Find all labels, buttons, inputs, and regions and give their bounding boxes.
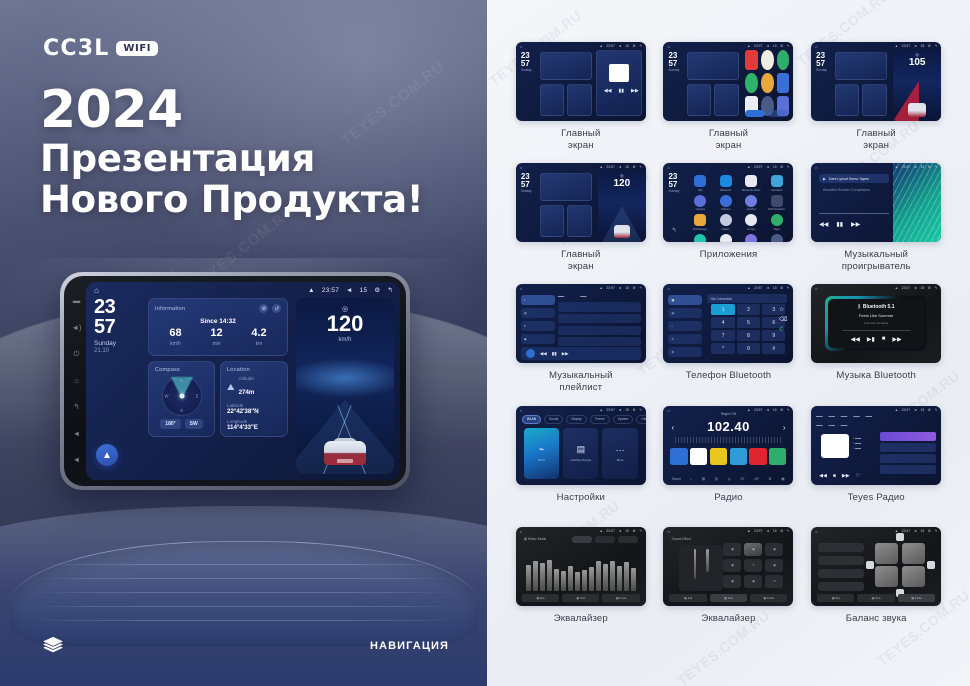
thumbnail-bt-phone[interactable]: ⌂ ▲23:57◄15⚙↰ ▦ ▤ ⌕ ✆ ⚙ Not Connected 1 … [663, 284, 793, 363]
tab-charts[interactable]: ▬▬ [841, 414, 847, 418]
app-icon-dsp-equalizer[interactable] [771, 195, 783, 207]
footer-tab-fade[interactable]: ▦ Fade [750, 594, 787, 602]
speaker-rear-right[interactable] [902, 566, 925, 587]
thumb-volume: 15 [773, 286, 777, 290]
tab-live[interactable]: ▬▬ [816, 414, 822, 418]
location-card[interactable]: Location ⛰ Altitude 274m [220, 361, 288, 437]
app-icon-maps[interactable] [771, 214, 783, 226]
speaker-front-left[interactable] [875, 543, 898, 564]
power-button[interactable]: ⏻ [74, 350, 80, 358]
dialpad-key-7[interactable]: 7 [711, 330, 734, 341]
home-button[interactable]: ⌂ [74, 377, 79, 385]
preset-pop[interactable]: ▣ [744, 543, 762, 556]
app-tile[interactable]: Camera [689, 195, 711, 212]
volume-up-button[interactable]: ◄ [73, 456, 80, 464]
prev-icon[interactable]: ◀◀ [819, 473, 827, 479]
thumbnail-home-speed[interactable]: ⌂ ▲23:57◄15⚙↰ 2357Sunday ◎ 120 [516, 163, 646, 242]
list-item[interactable] [558, 326, 641, 335]
eq-icon[interactable]: ▥ [715, 477, 718, 481]
fader-up-button[interactable] [896, 533, 904, 541]
settings-tabs[interactable]: WLAN Sound Display Theme System General [522, 415, 646, 424]
latitude-row: Latitude 22°42'38"N [227, 403, 281, 415]
gallery-item[interactable]: ⌂ ▲23:57◄15⚙↰ WLAN Sound Display Theme S… [511, 406, 651, 527]
media-controls[interactable]: ◀◀▮▮▶▶ [604, 88, 639, 94]
eq-band[interactable] [533, 561, 538, 590]
thumbnail-music-player[interactable]: ⌂ ▲23:57◄15⚙↰ ▶Dark Lyrical Demo Tapes B… [811, 163, 941, 242]
tab-system[interactable]: System [613, 415, 634, 424]
tab-more[interactable]: ▬▬ [866, 414, 872, 418]
backspace-icon[interactable]: ⌫ [779, 316, 787, 323]
app-tile[interactable]: Play Store [715, 234, 737, 243]
list-item[interactable] [558, 314, 641, 323]
settings-card-wifi[interactable]: ⌁Wi-Fi [524, 428, 559, 479]
app-icon-play-store[interactable] [720, 234, 732, 243]
call-icon[interactable]: ✆ [779, 326, 787, 333]
dialpad-key-8[interactable]: 8 [737, 330, 760, 341]
list-item[interactable] [880, 465, 936, 474]
eq-band[interactable] [603, 564, 608, 591]
mute-button[interactable]: ◄) [72, 324, 82, 332]
eq-band[interactable] [561, 571, 566, 590]
sidebar-item-folders[interactable]: ▣ [521, 334, 555, 344]
filter-recent[interactable]: ▬▬ [841, 423, 847, 427]
eq-band[interactable] [582, 570, 587, 591]
thumbnail-settings[interactable]: ⌂ ▲23:57◄15⚙↰ WLAN Sound Display Theme S… [516, 406, 646, 485]
volume-icon[interactable]: ◄ [346, 287, 353, 294]
thumb-clock: 2357Sunday [521, 52, 532, 72]
app-tile[interactable]: Carshot [740, 195, 762, 212]
equalizer-footer-tabs[interactable]: ▦ EQ▦ Sub▦ Fade [522, 594, 640, 602]
tab-theme[interactable]: Theme [590, 415, 610, 424]
eq-preset-buttons[interactable] [572, 536, 638, 543]
thumbnail-teyes-radio[interactable]: ▲23:57◄15⚙↰ ▬▬▬▬▬▬▬▬▬▬ ▬▬▬▬▬▬ ▪ ▬▬▪ ▬▬▪ … [811, 406, 941, 485]
gallery-item[interactable]: ⌂ ▲23:57◄15⚙↰ ▦ ▤ ⌕ ✆ ⚙ Not Connected 1 … [659, 284, 799, 405]
thumbnail-equalizer-2[interactable]: ⌂ ▲23:57◄15⚙↰ Sound Effect ▣▣▣ ▣✎▣ ▣▣↺ ▦… [663, 527, 793, 606]
thumb-clock-day: Sunday [668, 190, 679, 193]
thumb-time: 23:57 [754, 286, 763, 290]
stop-icon[interactable]: ■ [882, 336, 886, 343]
play-icon[interactable]: ▶ [823, 177, 826, 181]
sidebar-item-history[interactable]: ✆ [668, 334, 702, 344]
preset-button-1[interactable] [572, 536, 592, 543]
thumb-location-card [567, 84, 592, 116]
preset-item[interactable] [818, 582, 864, 591]
preset-item[interactable] [818, 569, 864, 578]
gallery-item[interactable]: ⌂ ▲23:57◄15⚙↰ 2357Sunday ◀◀▮▮▶▶ Главныйэ… [511, 42, 651, 163]
gallery-item[interactable]: ⌂ ▲23:57◄15⚙↰ ▦ EQ▦ Sub▦ Fade Бала [806, 527, 946, 648]
thumbnail-equalizer[interactable]: ⌂ ▲23:57◄15⚙↰ ▤ Music Mode ▦ EQ▦ [516, 527, 646, 606]
eq-band[interactable] [610, 561, 615, 590]
app-icon-music-player[interactable] [694, 234, 706, 243]
footer-tab-eq[interactable]: ▦ EQ [522, 594, 559, 602]
progress-bar[interactable] [842, 330, 911, 331]
app-tile[interactable]: Bluetooth [715, 175, 737, 192]
prev-icon[interactable]: ◀◀ [851, 336, 860, 343]
preset-vocal[interactable]: ▣ [765, 559, 783, 572]
app-tile[interactable]: Settings [766, 234, 788, 243]
app-tile[interactable]: Chrome [715, 195, 737, 212]
pause-icon[interactable]: ▮▮ [619, 88, 625, 94]
gallery-item[interactable]: ⌂ ▲23:57◄15⚙↰ Region FM 102.40 ‹ › [659, 406, 799, 527]
dialpad-key-hash[interactable]: # [762, 343, 785, 354]
app-tile[interactable]: Radio [740, 234, 762, 243]
equalizer-footer-tabs[interactable]: ▦ EQ▦ Sub▦ Fade [669, 594, 787, 602]
eq-band[interactable] [617, 566, 622, 591]
preset-item[interactable] [818, 543, 864, 552]
app-tile[interactable]: Music Player [689, 234, 711, 243]
balance-fader-pad[interactable] [873, 541, 927, 589]
pause-icon[interactable]: ▮▮ [836, 221, 843, 228]
sidebar-item-settings[interactable]: ⚙ [668, 347, 702, 357]
stop-icon[interactable]: ■ [833, 473, 836, 479]
sidebar-item-search[interactable]: ⌕ [668, 321, 702, 331]
playlist-list[interactable] [558, 302, 641, 346]
preset-button-2[interactable] [595, 536, 615, 543]
next-icon[interactable]: ▶▶ [892, 336, 901, 343]
caption-line-1: Эквалайзер [554, 613, 608, 624]
progress-bar[interactable] [819, 213, 889, 214]
app-icon-gmaps[interactable] [745, 214, 757, 226]
gallery-item[interactable]: ⌂ ▲23:57◄15⚙↰ ♪ ▤ ♥ ▣ ▬▬▬▬ ◀◀▮▮▶▶ Музыка… [511, 284, 651, 405]
app-icon-carshot[interactable] [745, 195, 757, 207]
app-icon-maps[interactable] [777, 50, 790, 70]
footer-tab-eq[interactable]: ▦ EQ [817, 594, 854, 602]
dock-button-1[interactable] [745, 110, 765, 117]
prev-icon[interactable]: ◀◀ [540, 351, 547, 357]
app-tile[interactable]: DSP Equalizer [766, 195, 788, 212]
back-icon[interactable]: ↰ [387, 286, 393, 294]
now-playing-row[interactable]: ▶Dark Lyrical Demo Tapes [819, 174, 889, 183]
equalizer-footer-tabs[interactable]: ▦ EQ▦ Sub▦ Fade [817, 594, 935, 602]
gallery-item[interactable]: ⌂ ▲23:57◄15⚙↰ 2357Sunday [659, 42, 799, 163]
dock-button-2[interactable] [768, 110, 788, 117]
phone-sidebar[interactable]: ▦ ▤ ⌕ ✆ ⚙ [668, 295, 702, 357]
app-tile[interactable]: Maps [766, 214, 788, 231]
thumb-speed-value: 120 [613, 178, 630, 189]
phone-actions[interactable]: ☆⌫✆ [779, 306, 787, 333]
teyes-filters-row[interactable]: ▬▬▬▬▬▬ [816, 423, 936, 427]
app-icon-browser[interactable] [777, 73, 790, 93]
eq-band[interactable] [624, 562, 629, 591]
thumb-status-bar: ▲23:57◄15⚙↰ [599, 408, 641, 412]
next-icon[interactable]: ▶▶ [842, 473, 850, 479]
playback-controls[interactable]: ◀◀■▶▶♡ [819, 473, 860, 479]
preset-bass[interactable]: ▣ [723, 575, 741, 588]
tab-display[interactable]: Display [566, 415, 586, 424]
thumb-volume: 15 [773, 44, 777, 48]
preset-classic[interactable]: ▣ [723, 559, 741, 572]
preset-reset[interactable]: ↺ [765, 575, 783, 588]
app-tile[interactable]: Calculator [766, 175, 788, 192]
list-icon[interactable]: ▤ [702, 477, 705, 481]
preset-button-3[interactable] [618, 536, 638, 543]
album-art [526, 349, 535, 358]
footer-tab-fade[interactable]: ▦ Fade [602, 594, 639, 602]
af-icon[interactable]: AF [754, 477, 759, 481]
thumbnail-home-media[interactable]: ⌂ ▲23:57◄15⚙↰ 2357Sunday ◀◀▮▮▶▶ [516, 42, 646, 121]
preset-2[interactable] [690, 448, 707, 465]
app-tile[interactable]: Bluetooth Music [740, 175, 762, 192]
compass-card[interactable]: Compass N S W E [148, 361, 215, 437]
app-icon-bluetooth[interactable] [720, 175, 732, 187]
thumb-clock-minutes: 57 [668, 59, 677, 68]
information-actions[interactable]: ⚙ ↺ [259, 304, 281, 313]
clock-widget[interactable]: 23 57 Sunday 21.10 [94, 298, 140, 356]
prev-icon[interactable]: ◀◀ [819, 221, 828, 228]
app-icon-camera[interactable] [694, 195, 706, 207]
eq-band[interactable] [547, 560, 552, 591]
tab-genres[interactable]: ▬▬ [853, 414, 859, 418]
tab-all[interactable]: ▬▬ [558, 294, 564, 298]
compass-title: Compass [155, 367, 208, 373]
menu-button[interactable]: ▬ [73, 297, 81, 305]
next-icon[interactable]: ▶▶ [851, 221, 860, 228]
next-icon[interactable]: ▶▶ [562, 351, 569, 357]
sidebar-item-contacts[interactable]: ▤ [668, 308, 702, 318]
app-label: FileManager [693, 228, 707, 231]
thumbnail-playlist[interactable]: ⌂ ▲23:57◄15⚙↰ ♪ ▤ ♥ ▣ ▬▬▬▬ ◀◀▮▮▶▶ [516, 284, 646, 363]
settings-icon[interactable]: ⚙ [259, 304, 268, 313]
eq-band[interactable] [631, 568, 636, 591]
gallery-item[interactable]: ⌂ ▲23:57◄15⚙↰ 2357Sunday Wifi Bluetooth … [659, 163, 799, 284]
list-item[interactable] [880, 432, 936, 441]
tab-recent[interactable]: ▬▬ [580, 294, 586, 298]
car-3d-model [324, 435, 366, 469]
caption-line-1: Баланс звука [846, 613, 907, 624]
footer-tab-sub[interactable]: ▦ Sub [857, 594, 894, 602]
caption-line-1: Музыкальный [549, 370, 613, 381]
app-drawer-grid[interactable]: Wifi Bluetooth Bluetooth Music Calculato… [689, 175, 787, 242]
speaker-rear-left[interactable] [875, 566, 898, 587]
footer-tab-fade[interactable]: ▦ Fade [898, 594, 935, 602]
app-icon-calculator[interactable] [771, 175, 783, 187]
gallery-item[interactable]: ⌂ ▲23:57◄15⚙↰ ▶Dark Lyrical Demo Tapes B… [806, 163, 946, 284]
reset-icon[interactable]: ↺ [272, 304, 281, 313]
thumbnail-radio[interactable]: ⌂ ▲23:57◄15⚙↰ Region FM 102.40 ‹ › [663, 406, 793, 485]
thumbnail-balance[interactable]: ⌂ ▲23:57◄15⚙↰ ▦ EQ▦ Sub▦ Fade [811, 527, 941, 606]
sidebar-item-tracks[interactable]: ♪ [521, 295, 555, 305]
head-unit-side-buttons[interactable]: ▬ ◄) ⏻ ⌂ ↰ ◄ ◄ [69, 288, 84, 473]
dialpad[interactable]: 1 2 3 4 5 6 7 8 9 * 0 # [711, 304, 785, 354]
settings-card-label: Wi-Fi [538, 458, 545, 462]
back-button[interactable]: ↰ [73, 403, 79, 411]
sidebar-item-favorites[interactable]: ♥ [521, 321, 555, 331]
dialpad-key-star[interactable]: * [711, 343, 734, 354]
slider[interactable] [694, 549, 697, 579]
eq-band[interactable] [554, 569, 559, 591]
back-icon[interactable]: ↰ [671, 227, 676, 234]
tab-podcast[interactable]: ▬▬ [829, 414, 835, 418]
eq-band[interactable] [568, 566, 573, 590]
stat-value: 12 [210, 328, 222, 339]
app-icon-chrome[interactable] [720, 195, 732, 207]
gallery-item[interactable]: ⌂ ▲23:57◄15⚙↰ Sound Effect ▣▣▣ ▣✎▣ ▣▣↺ ▦… [659, 527, 799, 648]
information-card[interactable]: Information ⚙ ↺ Since 14:32 [148, 298, 288, 356]
tab-general[interactable]: General [636, 415, 646, 424]
eq-band[interactable] [575, 572, 580, 590]
grid-icon[interactable]: ▦ [781, 477, 784, 481]
dialpad-key-4[interactable]: 4 [711, 317, 734, 328]
settings-card-carplay[interactable]: ▤CarPlay Dongle [563, 428, 598, 479]
balance-left-button[interactable] [866, 561, 874, 569]
favorite-icon[interactable]: ♡ [856, 473, 860, 479]
preset-3[interactable] [710, 448, 727, 465]
preset-4[interactable] [730, 448, 747, 465]
caption-line-1: Главный [561, 249, 600, 260]
dialpad-key-2[interactable]: 2 [737, 304, 760, 315]
app-icon-gallery[interactable] [720, 214, 732, 226]
list-item[interactable] [880, 443, 936, 452]
gallery-item[interactable]: ⌂ ▲23:57◄15⚙↰ ᛒBluetooth 5.1 Feels Like … [806, 284, 946, 405]
teyes-tabs-row[interactable]: ▬▬▬▬▬▬▬▬▬▬ [816, 414, 936, 418]
drive-view-widget[interactable]: ◎ 120 km/h [296, 298, 394, 474]
thumb-status-bar: ▲23:57◄15⚙↰ [747, 286, 789, 290]
layers-icon[interactable] [42, 636, 64, 654]
filter-all[interactable]: ▬▬ [816, 423, 822, 427]
gallery-item[interactable]: ⌂ ▲23:57◄15⚙↰ 2357Sunday ◎ 120 Главныйэк… [511, 163, 651, 284]
eq-band[interactable] [540, 563, 545, 591]
thumb-time: 23:57 [606, 408, 615, 412]
gallery-item[interactable]: ⌂ ▲23:57◄15⚙↰ 2357Sunday ◎ 105 Главныйэк… [806, 42, 946, 163]
settings-card-more[interactable]: ···More [602, 428, 637, 479]
settings-icon[interactable]: ⚙ [374, 286, 380, 294]
bt-song-title: Feels Like Summer [859, 313, 893, 318]
sidebar-item-dialpad[interactable]: ▦ [668, 295, 702, 305]
st-icon[interactable]: ST [740, 477, 745, 481]
play-pause-icon[interactable]: ▶▮ [867, 336, 875, 343]
station-list[interactable] [880, 432, 936, 474]
balance-right-button[interactable] [927, 561, 935, 569]
status-time: 23:57 [322, 287, 339, 294]
eq-band[interactable] [589, 567, 594, 591]
wifi-icon: ▲ [308, 287, 315, 294]
hero-panel: TEYES.COM.RU TEYES.COM.RU TEYES.COM.RU T… [0, 0, 487, 686]
preset-1[interactable] [670, 448, 687, 465]
footer-tab-sub[interactable]: ▦ Sub [562, 594, 599, 602]
preset-rock[interactable]: ▣ [723, 543, 741, 556]
footer-tab-sub[interactable]: ▦ Sub [710, 594, 747, 602]
app-dock[interactable] [745, 110, 788, 117]
app-tile[interactable]: FileManager [689, 214, 711, 231]
frequency-dial[interactable] [675, 437, 781, 443]
equalizer-bands[interactable] [526, 549, 636, 591]
preset-jazz[interactable]: ▣ [765, 543, 783, 556]
prev-icon[interactable]: ◀◀ [604, 88, 612, 94]
preset-item[interactable] [818, 556, 864, 565]
navigation-fab[interactable]: ▲ [96, 444, 118, 466]
eq-band[interactable] [526, 565, 531, 591]
thumbnail-bt-music[interactable]: ⌂ ▲23:57◄15⚙↰ ᛒBluetooth 5.1 Feels Like … [811, 284, 941, 363]
next-station-icon[interactable]: › [783, 423, 786, 432]
thumb-volume: 15 [773, 165, 777, 169]
tab-sound[interactable]: Sound [544, 415, 563, 424]
speaker-front-right[interactable] [902, 543, 925, 564]
band-button[interactable]: Band [672, 477, 680, 481]
thumb-time: 23:57 [902, 44, 911, 48]
dialpad-key-0[interactable]: 0 [737, 343, 760, 354]
list-item[interactable] [558, 302, 641, 311]
app-icon-wifi[interactable] [694, 175, 706, 187]
gallery-caption: Радио [714, 492, 742, 504]
app-icon-spotify[interactable] [745, 73, 758, 93]
thumb-volume: 15 [920, 44, 924, 48]
app-tile[interactable]: Gallery [715, 214, 737, 231]
volume-down-button[interactable]: ◄ [73, 430, 80, 438]
prev-station-icon[interactable]: ‹ [671, 423, 674, 432]
thumbnail-apps[interactable]: ⌂ ▲23:57◄15⚙↰ 2357Sunday Wifi Bluetooth … [663, 163, 793, 242]
thumbnail-home-apps[interactable]: ⌂ ▲23:57◄15⚙↰ 2357Sunday [663, 42, 793, 121]
gallery-item[interactable]: ▲23:57◄15⚙↰ ▬▬▬▬▬▬▬▬▬▬ ▬▬▬▬▬▬ ▪ ▬▬▪ ▬▬▪ … [806, 406, 946, 527]
app-shortcut-grid[interactable] [745, 50, 789, 116]
preset-flat[interactable]: ▣ [744, 575, 762, 588]
app-icon-files[interactable] [761, 73, 774, 93]
app-label: Carshot [747, 208, 756, 211]
list-item[interactable] [880, 454, 936, 463]
caption-line-1: Главный [857, 128, 896, 139]
home-icon[interactable]: ⌂ [94, 286, 99, 295]
app-icon-bluetooth-music[interactable] [745, 175, 757, 187]
dialpad-key-1[interactable]: 1 [711, 304, 734, 315]
head-unit-screen[interactable]: ⌂ ▲ 23:57 ◄ 15 ⚙ ↰ 23 [86, 282, 400, 480]
playback-controls[interactable]: ◀◀▮▮▶▶ [819, 221, 889, 228]
sidebar-item-albums[interactable]: ▤ [521, 308, 555, 318]
bt-music-inner: ᛒBluetooth 5.1 Feels Like Summer Unknown… [828, 299, 924, 348]
app-label: Gallery [722, 228, 730, 231]
balance-presets[interactable] [818, 543, 864, 591]
caption-line-2: экран [568, 261, 594, 272]
playlist-tabs[interactable]: ▬▬▬▬ [558, 294, 641, 298]
star-icon[interactable]: ☆ [779, 306, 787, 313]
settings-cards[interactable]: ⌁Wi-Fi ▤CarPlay Dongle ···More [524, 428, 638, 479]
sub-sliders[interactable] [679, 545, 723, 591]
playlist-sidebar[interactable]: ♪ ▤ ♥ ▣ [521, 295, 555, 344]
next-icon[interactable]: ▶▶ [631, 88, 639, 94]
thumbnail-home-drive[interactable]: ⌂ ▲23:57◄15⚙↰ 2357Sunday ◎ 105 [811, 42, 941, 121]
app-icon-contacts[interactable] [761, 50, 774, 70]
thumb-compass-card [540, 84, 564, 116]
app-tile[interactable]: Wifi [689, 175, 711, 192]
eq-band[interactable] [596, 561, 601, 591]
dialpad-key-5[interactable]: 5 [737, 317, 760, 328]
preset-6[interactable] [769, 448, 786, 465]
radio-toolbar[interactable]: Band⌕▤▥◎STAF⚙▦ [669, 477, 787, 481]
app-icon-filemanager[interactable] [694, 214, 706, 226]
app-icon-youtube[interactable] [745, 50, 758, 70]
mini-player[interactable]: ◀◀▮▮▶▶ [521, 347, 641, 360]
footer-tab-eq[interactable]: ▦ EQ [669, 594, 706, 602]
slider[interactable] [706, 549, 709, 573]
playback-controls[interactable]: ◀◀▶▮■▶▶ [851, 336, 902, 343]
pause-icon[interactable]: ▮▮ [552, 351, 557, 357]
app-tile[interactable]: Gmaps [740, 214, 762, 231]
tab-wlan[interactable]: WLAN [522, 415, 541, 424]
settings-icon[interactable]: ⚙ [769, 477, 772, 481]
app-icon-radio[interactable] [745, 234, 757, 243]
song-title: Dark Lyrical Demo Tapes [829, 177, 869, 181]
preset-5[interactable] [749, 448, 766, 465]
preset-custom[interactable]: ✎ [744, 559, 762, 572]
list-item[interactable] [558, 337, 641, 346]
preset-stations[interactable] [670, 448, 786, 465]
app-icon-settings[interactable] [771, 234, 783, 243]
thumb-clock: 2357Sunday [668, 52, 679, 72]
gallery-caption: Teyes Радио [848, 492, 905, 504]
filter-fav[interactable]: ▬▬ [829, 423, 835, 427]
loc-icon[interactable]: ◎ [728, 477, 731, 481]
sound-preset-grid[interactable]: ▣▣▣ ▣✎▣ ▣▣↺ [723, 543, 783, 588]
search-icon[interactable]: ⌕ [690, 477, 692, 481]
gallery-item[interactable]: ⌂ ▲23:57◄15⚙↰ ▤ Music Mode ▦ EQ▦ [511, 527, 651, 648]
